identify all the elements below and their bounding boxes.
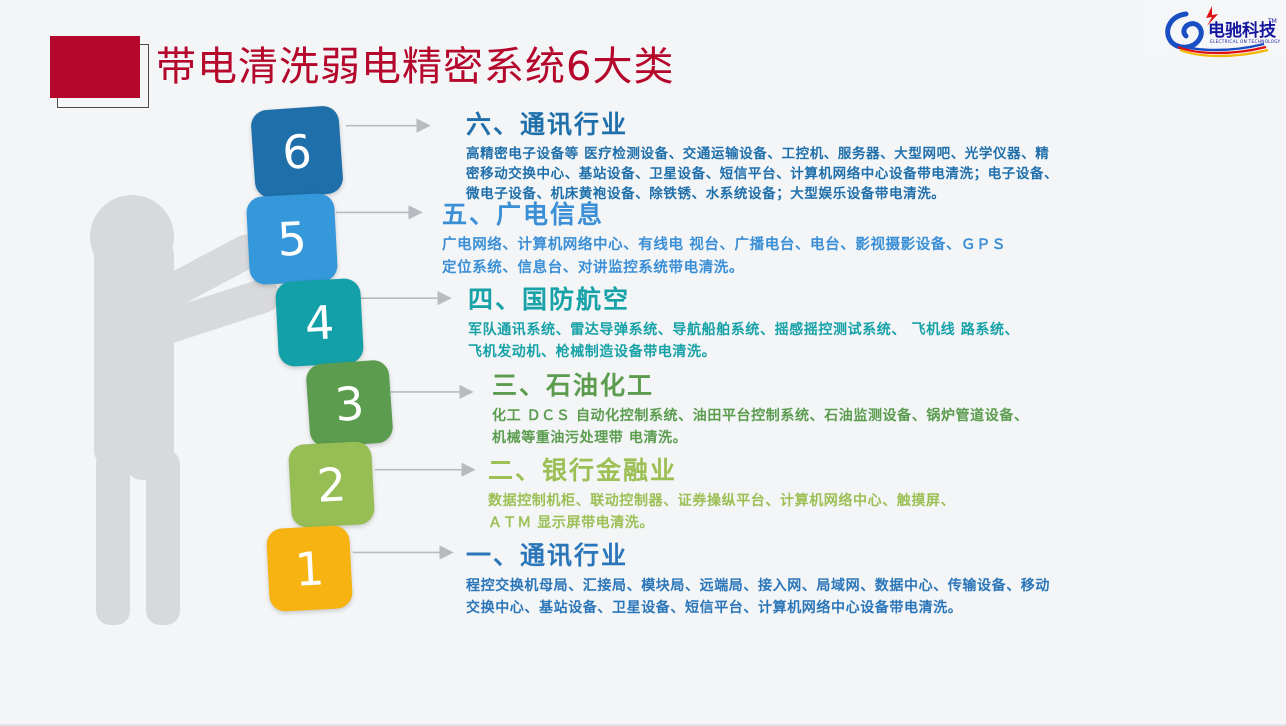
section-4-heading: 四、国防航空 [468,285,1019,315]
section-4-body: 军队通讯系统、雷达导弹系统、导航船舶系统、摇感摇控测试系统、 飞机线 路系统、 … [468,319,1019,363]
section-2-body-line-2: ＡＴＭ 显示屏带电清洗。 [488,512,955,534]
number-block-6[interactable]: 6 [250,105,344,199]
section-5-body: 广电网络、计算机网络中心、有线电 视台、广播电台、电台、影视摄影设备、ＧＰＳ 定… [442,234,1006,280]
section-3-body-line-2: 机械等重油污处理带 电清洗。 [492,427,1029,449]
section-2-heading: 二、银行金融业 [488,456,955,486]
section-1: 一、通讯行业 程控交换机母局、汇接局、模块局、远端局、接入网、局域网、数据中心、… [466,541,1050,619]
section-1-body-line-1: 程控交换机母局、汇接局、模块局、远端局、接入网、局域网、数据中心、传输设备、移动 [466,575,1050,597]
section-3-body: 化工 ＤＣＳ 自动化控制系统、油田平台控制系统、石油监测设备、锅炉管道设备、 机… [492,405,1029,449]
number-block-4[interactable]: 4 [275,278,364,367]
section-5-heading: 五、广电信息 [442,200,1006,230]
number-block-1[interactable]: 1 [266,525,353,612]
section-4: 四、国防航空 军队通讯系统、雷达导弹系统、导航船舶系统、摇感摇控测试系统、 飞机… [468,285,1019,363]
section-6-body-line-2: 密移动交换中心、基站设备、卫星设备、短信平台、计算机网络中心设备带电清洗；电子设… [466,164,1058,184]
section-5: 五、广电信息 广电网络、计算机网络中心、有线电 视台、广播电台、电台、影视摄影设… [442,200,1006,280]
section-5-body-line-1: 广电网络、计算机网络中心、有线电 视台、广播电台、电台、影视摄影设备、ＧＰＳ [442,234,1006,257]
section-1-heading: 一、通讯行业 [466,541,1050,571]
number-block-2[interactable]: 2 [288,441,375,528]
section-3: 三、石油化工 化工 ＤＣＳ 自动化控制系统、油田平台控制系统、石油监测设备、锅炉… [492,371,1029,449]
section-1-body: 程控交换机母局、汇接局、模块局、远端局、接入网、局域网、数据中心、传输设备、移动… [466,575,1050,619]
section-6: 六、通讯行业 高精密电子设备等 医疗检测设备、交通运输设备、工控机、服务器、大型… [466,110,1058,204]
number-block-5[interactable]: 5 [246,193,338,285]
slide-canvas: 电驰科技 ELECTRICAL ON TECHNOLOGY TM 带电清洗弱电精… [0,0,1286,726]
section-6-body: 高精密电子设备等 医疗检测设备、交通运输设备、工控机、服务器、大型网吧、光学仪器… [466,144,1058,204]
section-4-body-line-1: 军队通讯系统、雷达导弹系统、导航船舶系统、摇感摇控测试系统、 飞机线 路系统、 [468,319,1019,341]
number-block-3[interactable]: 3 [305,359,394,448]
section-2-body: 数据控制机柜、联动控制器、证券操纵平台、计算机网络中心、触摸屏、 ＡＴＭ 显示屏… [488,490,955,534]
section-2-body-line-1: 数据控制机柜、联动控制器、证券操纵平台、计算机网络中心、触摸屏、 [488,490,955,512]
section-3-heading: 三、石油化工 [492,371,1029,401]
section-5-body-line-2: 定位系统、信息台、对讲监控系统带电清洗。 [442,257,1006,280]
section-1-body-line-2: 交换中心、基站设备、卫星设备、短信平台、计算机网络中心设备带电清洗。 [466,597,1050,619]
section-6-body-line-1: 高精密电子设备等 医疗检测设备、交通运输设备、工控机、服务器、大型网吧、光学仪器… [466,144,1058,164]
section-3-body-line-1: 化工 ＤＣＳ 自动化控制系统、油田平台控制系统、石油监测设备、锅炉管道设备、 [492,405,1029,427]
section-4-body-line-2: 飞机发动机、枪械制造设备带电清洗。 [468,341,1019,363]
section-6-heading: 六、通讯行业 [466,110,1058,140]
section-2: 二、银行金融业 数据控制机柜、联动控制器、证券操纵平台、计算机网络中心、触摸屏、… [488,456,955,534]
